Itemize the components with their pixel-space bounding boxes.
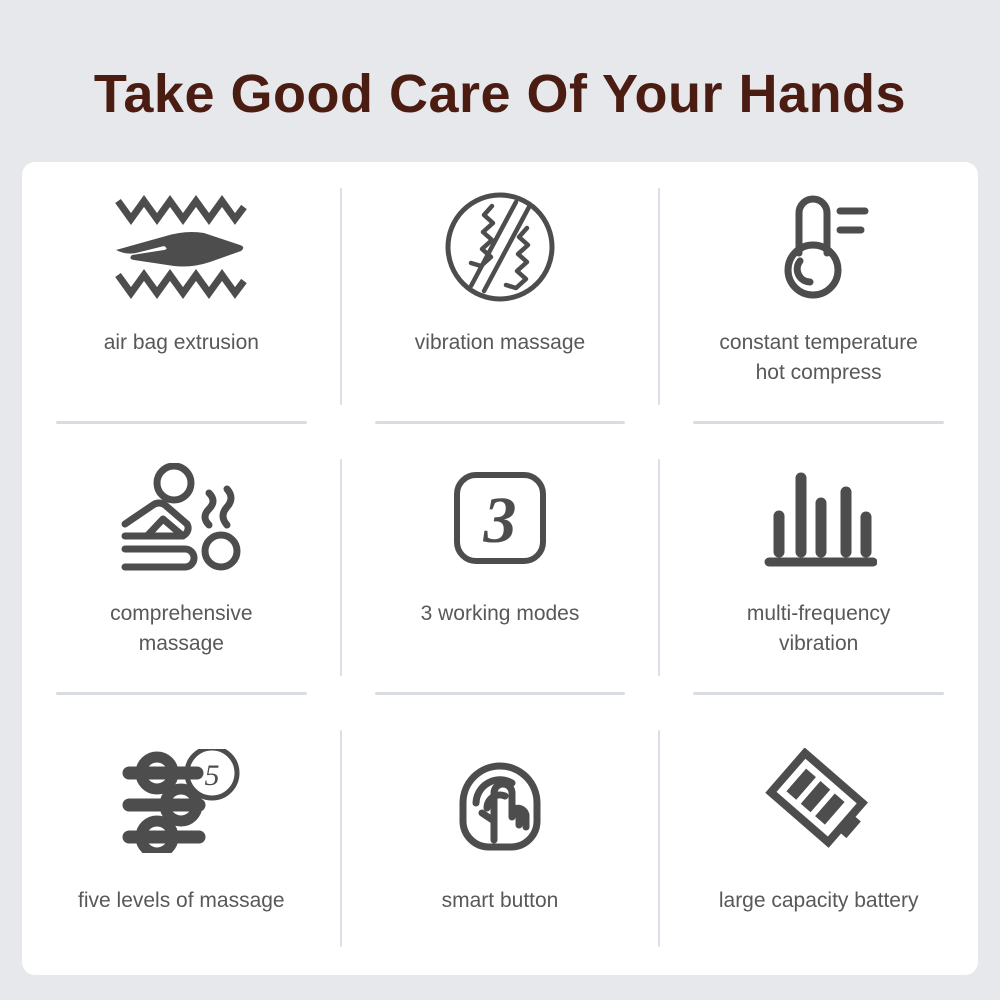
sliders-levels-icon: 5 — [119, 726, 243, 876]
feature-label: comprehensive massage — [110, 599, 252, 659]
feature-card: air bag extrusion vibration massage — [22, 162, 978, 975]
feature-label: air bag extrusion — [104, 328, 259, 358]
feature-cell-working-modes: 3 3 working modes — [341, 433, 660, 704]
battery-icon — [763, 726, 875, 876]
level-count-value: 5 — [205, 759, 220, 792]
promo-feature-page: Take Good Care Of Your Hands air bag ext… — [0, 0, 1000, 1000]
feature-label-line1: comprehensive — [110, 602, 252, 625]
page-title: Take Good Care Of Your Hands — [94, 62, 906, 126]
feature-label: constant temperature hot compress — [719, 328, 917, 388]
touch-hand-icon — [449, 726, 551, 876]
feature-label-line2: massage — [139, 632, 224, 655]
feature-grid: air bag extrusion vibration massage — [22, 162, 978, 975]
vibration-circle-icon — [443, 172, 557, 322]
feature-label: smart button — [442, 886, 559, 916]
feature-label: multi-frequency vibration — [747, 599, 891, 659]
mode-count-value: 3 — [482, 484, 516, 557]
feature-cell-constant-temperature: constant temperature hot compress — [659, 162, 978, 433]
airbag-hand-zigzag-icon — [114, 172, 248, 322]
feature-cell-multi-frequency: multi-frequency vibration — [659, 433, 978, 704]
feature-label-line1: multi-frequency — [747, 602, 891, 625]
feature-cell-vibration-massage: vibration massage — [341, 162, 660, 433]
feature-label-line2: hot compress — [756, 361, 882, 384]
thermometer-icon — [766, 172, 872, 322]
feature-cell-air-bag-extrusion: air bag extrusion — [22, 162, 341, 433]
feature-label-line2: vibration — [779, 632, 858, 655]
feature-cell-five-levels: 5 five levels of massage — [22, 704, 341, 975]
feature-label: vibration massage — [415, 328, 585, 358]
feature-cell-large-battery: large capacity battery — [659, 704, 978, 975]
feature-label: five levels of massage — [78, 886, 285, 916]
feature-label: large capacity battery — [719, 886, 919, 916]
person-massage-icon — [117, 443, 245, 593]
feature-label: 3 working modes — [421, 599, 580, 629]
frequency-bars-icon — [761, 443, 877, 593]
feature-cell-smart-button: smart button — [341, 704, 660, 975]
number-square-icon: 3 — [452, 443, 548, 593]
feature-cell-comprehensive-massage: comprehensive massage — [22, 433, 341, 704]
feature-label-line1: constant temperature — [719, 331, 917, 354]
